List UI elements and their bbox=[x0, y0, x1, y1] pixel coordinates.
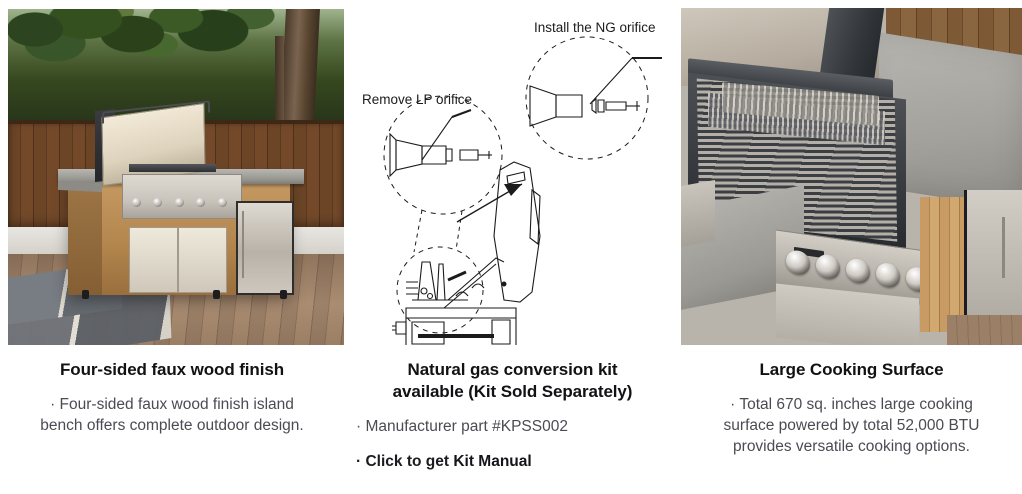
feature-title-1: Four-sided faux wood finish bbox=[6, 359, 338, 381]
lp-venturi-flare bbox=[390, 134, 396, 176]
control-knob bbox=[132, 198, 141, 207]
ng-venturi bbox=[530, 86, 556, 126]
detail-link-left bbox=[414, 210, 422, 252]
grill-lid-outline bbox=[494, 162, 540, 302]
feature-caption-2: Natural gas conversion kit available (Ki… bbox=[344, 359, 681, 471]
grill-lid-vent bbox=[507, 172, 525, 184]
feature-body-2: · Manufacturer part #KPSS002 bbox=[350, 416, 675, 437]
caster-wheel bbox=[213, 290, 220, 299]
grill-inner-left bbox=[412, 322, 444, 344]
grill-knob-row bbox=[126, 196, 234, 209]
caster-wheel bbox=[82, 290, 89, 299]
burner-detail-tool bbox=[448, 272, 466, 280]
lp-leader-line bbox=[422, 117, 452, 160]
feature-title-line: available (Kit Sold Separately) bbox=[350, 381, 675, 403]
control-knob bbox=[846, 257, 870, 284]
feature-title-line: Natural gas conversion kit bbox=[350, 359, 675, 381]
control-knob bbox=[876, 261, 900, 288]
detail-link-right bbox=[456, 211, 462, 250]
grill-lid-handle bbox=[530, 190, 540, 244]
photo-grill-island bbox=[8, 9, 344, 345]
control-knob bbox=[786, 249, 810, 276]
kit-manual-link[interactable]: Kit Manual bbox=[453, 453, 531, 470]
diagram-svg: Remove LP orifice Install the NG orifice bbox=[344, 0, 681, 345]
control-knob bbox=[175, 198, 184, 207]
burner-detail-circle bbox=[397, 247, 483, 333]
burner-detail-ribs bbox=[406, 282, 418, 294]
control-knob bbox=[196, 198, 205, 207]
ng-orifice-nut bbox=[598, 100, 604, 112]
grill-inner-right bbox=[492, 320, 510, 344]
lp-venturi bbox=[396, 140, 422, 170]
feature-image-faux-wood bbox=[8, 9, 344, 345]
control-knob bbox=[218, 198, 227, 207]
side-cabinet-handle bbox=[1002, 217, 1005, 278]
fridge-handle bbox=[242, 211, 244, 278]
ng-venturi-barrel bbox=[556, 95, 582, 117]
feature-body-line: · Manufacturer part #KPSS002 bbox=[356, 416, 675, 437]
lp-leader-underline bbox=[452, 110, 471, 117]
grill-hood-edge bbox=[819, 8, 884, 82]
feature-body-line: surface powered by total 52,000 BTU bbox=[687, 415, 1016, 436]
ng-orifice-body bbox=[606, 102, 626, 110]
burner-detail-screw bbox=[421, 288, 427, 294]
orifice-conversion-diagram: Remove LP orifice Install the NG orifice bbox=[344, 0, 681, 345]
burner-detail-screw-2 bbox=[428, 294, 433, 299]
grill-side-port-lines bbox=[392, 326, 396, 330]
side-burner-box bbox=[681, 180, 715, 247]
deck-floor bbox=[947, 315, 1022, 345]
feature-body-line: · Four-sided faux wood finish island bbox=[6, 394, 338, 415]
ng-leader-line bbox=[590, 58, 632, 104]
tree-trunk-secondary bbox=[275, 36, 284, 123]
diagram-label-remove-lp: Remove LP orifice bbox=[362, 92, 472, 107]
feature-body-3: · Total 670 sq. inches large cooking sur… bbox=[687, 394, 1016, 457]
feature-caption-1: Four-sided faux wood finish · Four-sided… bbox=[0, 359, 344, 436]
control-knob bbox=[153, 198, 162, 207]
ng-detail-circle bbox=[526, 37, 648, 159]
feature-body-line: bench offers complete outdoor design. bbox=[6, 415, 338, 436]
lp-orifice-body bbox=[460, 150, 478, 160]
kit-manual-line[interactable]: · Click to get Kit Manual bbox=[350, 453, 675, 471]
burner-detail-bracket bbox=[418, 262, 436, 300]
feature-grid: Four-sided faux wood finish · Four-sided… bbox=[0, 0, 1022, 494]
caster-wheel bbox=[280, 290, 287, 299]
feature-column-2: Remove LP orifice Install the NG orifice… bbox=[344, 0, 681, 494]
feature-caption-3: Large Cooking Surface · Total 670 sq. in… bbox=[681, 359, 1022, 457]
island-side-panel bbox=[68, 177, 102, 295]
faux-wood-panel bbox=[920, 197, 968, 332]
feature-body-line: · Total 670 sq. inches large cooking bbox=[687, 394, 1016, 415]
feature-body-1: · Four-sided faux wood finish island ben… bbox=[6, 394, 338, 436]
feature-body-line: provides versatile cooking options. bbox=[687, 436, 1016, 457]
feature-image-cooking-surface bbox=[681, 8, 1022, 345]
feature-image-ng-conversion: Remove LP orifice Install the NG orifice bbox=[344, 0, 681, 345]
feature-title-3: Large Cooking Surface bbox=[687, 359, 1016, 381]
ng-orifice-tip bbox=[592, 99, 596, 113]
diagram-label-install-ng: Install the NG orifice bbox=[534, 20, 656, 35]
grill-burner-area bbox=[129, 164, 216, 172]
lp-orifice-nut bbox=[446, 149, 452, 161]
grill-lid-front-edge bbox=[444, 264, 496, 308]
feature-column-1: Four-sided faux wood finish · Four-sided… bbox=[0, 0, 344, 494]
cabinet-door-right bbox=[178, 227, 227, 293]
photo-cooking-surface bbox=[681, 8, 1022, 345]
grill-side-port bbox=[396, 322, 406, 334]
control-knob bbox=[816, 253, 840, 280]
feature-title-2: Natural gas conversion kit available (Ki… bbox=[350, 359, 675, 403]
cabinet-door-left bbox=[129, 227, 178, 293]
grill-body-outline bbox=[406, 308, 516, 345]
grill-lid-pivot bbox=[502, 282, 507, 287]
outdoor-fridge-door bbox=[236, 201, 294, 296]
burner-detail-blade bbox=[437, 264, 445, 300]
kit-manual-prefix: · Click to get bbox=[356, 453, 453, 470]
feature-column-3: Large Cooking Surface · Total 670 sq. in… bbox=[681, 0, 1022, 494]
tree-trunk bbox=[280, 9, 320, 123]
conversion-arrow-head bbox=[504, 184, 522, 196]
